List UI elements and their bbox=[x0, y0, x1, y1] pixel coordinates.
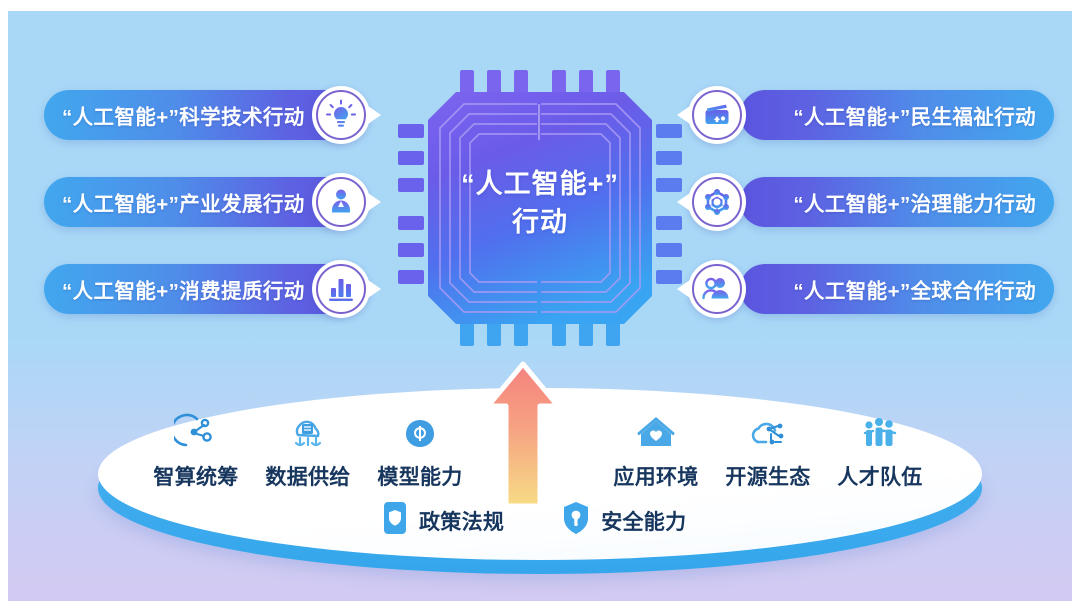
center-chip: “人工智能+” 行动 bbox=[398, 62, 682, 354]
people-group-icon bbox=[700, 272, 734, 306]
foundation-label: 数据供给 bbox=[248, 461, 368, 491]
bubble-tail bbox=[677, 106, 690, 124]
action-pill-science[interactable]: “人工智能+”科学技术行动 bbox=[44, 90, 358, 140]
action-label: “人工智能+”科学技术行动 bbox=[62, 100, 305, 130]
action-pill-governance[interactable]: “人工智能+”治理能力行动 bbox=[740, 177, 1054, 227]
industry-gear-person-icon bbox=[324, 185, 358, 219]
foundation-label: 开源生态 bbox=[708, 461, 828, 491]
foundation-label: 政策法规 bbox=[419, 506, 504, 536]
security-shield-key-icon bbox=[562, 500, 590, 541]
upward-arrow bbox=[484, 360, 562, 508]
bar-chart-icon bbox=[325, 273, 357, 305]
home-heart-icon bbox=[596, 410, 716, 456]
bubble-tail bbox=[368, 106, 381, 124]
compute-share-icon bbox=[136, 410, 256, 456]
infographic-canvas: 智算统筹 数据供给 bbox=[0, 0, 1080, 601]
foundation-label: 模型能力 bbox=[360, 461, 480, 491]
action-pill-welfare[interactable]: “人工智能+”民生福祉行动 bbox=[740, 90, 1054, 140]
center-title-line1: “人工智能+” bbox=[398, 165, 682, 203]
foundation-item-application[interactable]: 应用环境 bbox=[596, 410, 716, 491]
model-brain-cloud-icon bbox=[360, 410, 480, 456]
bubble-tail bbox=[368, 280, 381, 298]
foundation-label: 应用环境 bbox=[596, 461, 716, 491]
frame-edge-top bbox=[0, 0, 1080, 11]
frame-edge-left bbox=[0, 0, 8, 601]
foundation-item-security[interactable]: 安全能力 bbox=[562, 500, 686, 541]
action-pill-global[interactable]: “人工智能+”全球合作行动 bbox=[740, 264, 1054, 314]
action-label: “人工智能+”治理能力行动 bbox=[793, 187, 1036, 217]
industry-icon-badge[interactable] bbox=[312, 173, 370, 231]
network-icon-badge[interactable] bbox=[688, 173, 746, 231]
action-pill-consumption[interactable]: “人工智能+”消费提质行动 bbox=[44, 264, 358, 314]
open-source-cloud-icon bbox=[708, 410, 828, 456]
policy-shield-icon bbox=[382, 500, 408, 541]
data-cloud-icon bbox=[248, 410, 368, 456]
foundation-label: 智算统筹 bbox=[136, 461, 256, 491]
frame-edge-right bbox=[1072, 0, 1080, 601]
action-label: “人工智能+”产业发展行动 bbox=[62, 187, 305, 217]
bubble-tail bbox=[677, 193, 690, 211]
foundation-item-compute[interactable]: 智算统筹 bbox=[136, 410, 256, 491]
foundation-item-talent[interactable]: 人才队伍 bbox=[820, 410, 940, 491]
lightbulb-icon bbox=[324, 98, 358, 132]
network-hexagon-icon bbox=[700, 185, 734, 219]
center-title-line2: 行动 bbox=[398, 203, 682, 241]
talent-people-icon bbox=[820, 410, 940, 456]
center-title: “人工智能+” 行动 bbox=[398, 165, 682, 242]
foundation-label: 安全能力 bbox=[601, 506, 686, 536]
wallet-icon bbox=[700, 98, 734, 132]
wallet-icon-badge[interactable] bbox=[688, 86, 746, 144]
foundation-item-data[interactable]: 数据供给 bbox=[248, 410, 368, 491]
bubble-tail bbox=[368, 193, 381, 211]
bubble-tail bbox=[677, 280, 690, 298]
people-icon-badge[interactable] bbox=[688, 260, 746, 318]
action-label: “人工智能+”全球合作行动 bbox=[793, 274, 1036, 304]
foundation-item-opensource[interactable]: 开源生态 bbox=[708, 410, 828, 491]
lightbulb-icon-badge[interactable] bbox=[312, 86, 370, 144]
foundation-label: 人才队伍 bbox=[820, 461, 940, 491]
action-label: “人工智能+”民生福祉行动 bbox=[793, 100, 1036, 130]
foundation-item-model[interactable]: 模型能力 bbox=[360, 410, 480, 491]
action-label: “人工智能+”消费提质行动 bbox=[62, 274, 305, 304]
bar-chart-icon-badge[interactable] bbox=[312, 260, 370, 318]
action-pill-industry[interactable]: “人工智能+”产业发展行动 bbox=[44, 177, 358, 227]
